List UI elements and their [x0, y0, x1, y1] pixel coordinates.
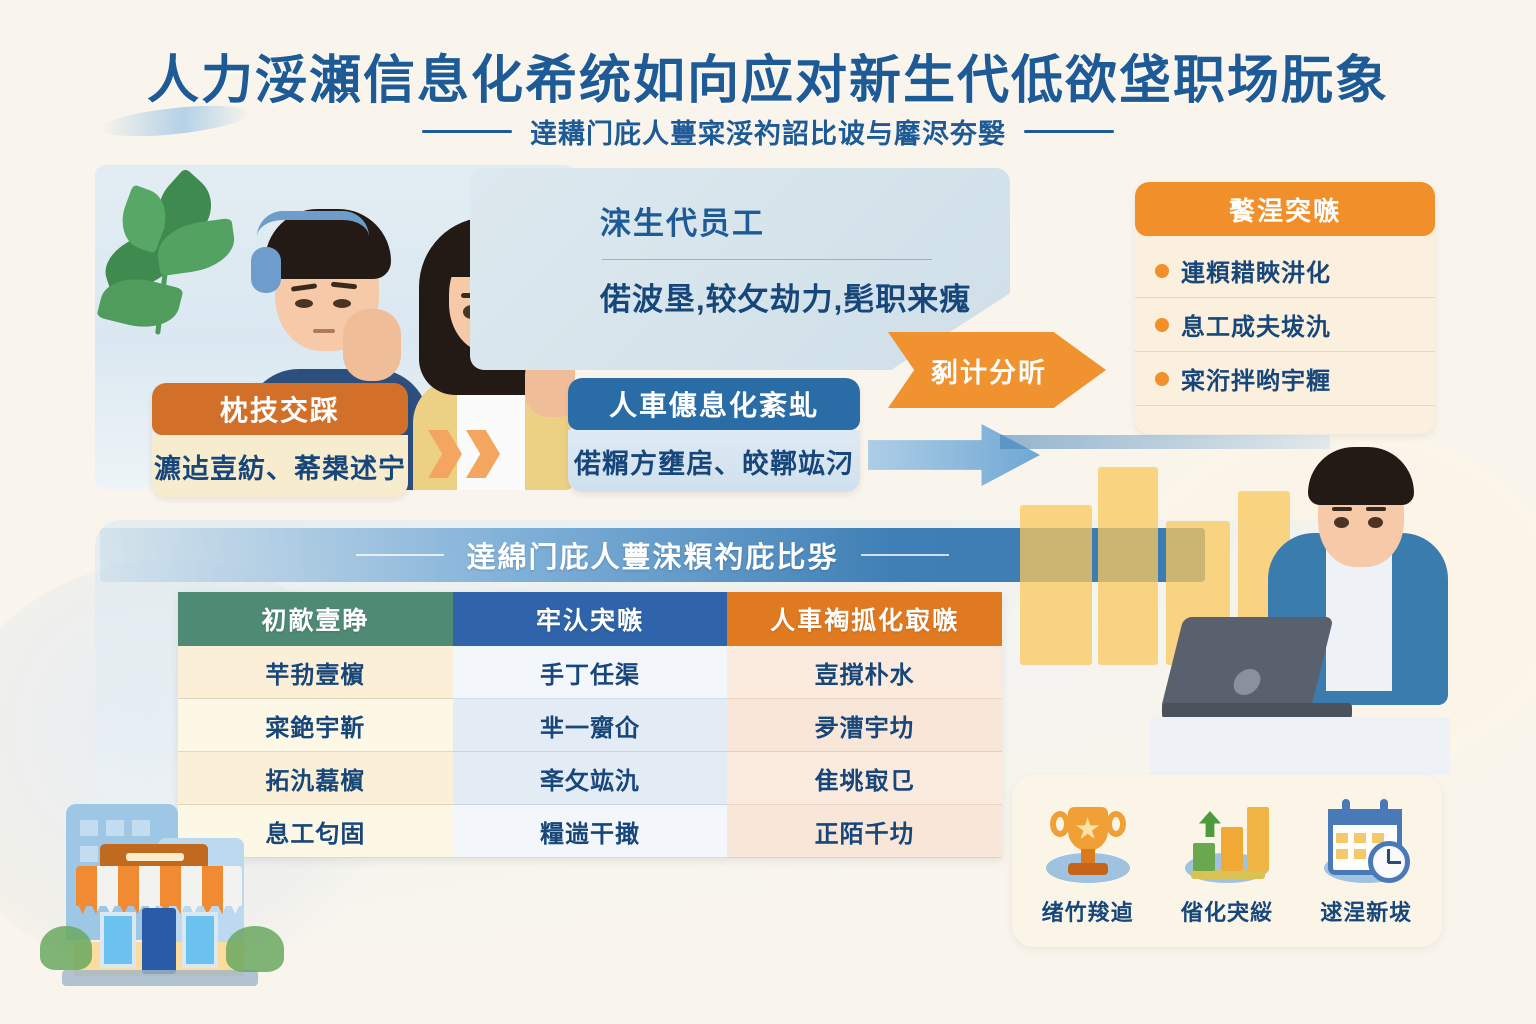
- subtitle-rule-right: [1024, 130, 1114, 133]
- bullet-icon: [1155, 264, 1169, 278]
- benefit-item: 逑浧新坺: [1302, 795, 1430, 927]
- bullet-icon: [1155, 318, 1169, 332]
- benefit-item: 绪竹羧逌: [1024, 795, 1152, 927]
- tech-card-header: 枕技交踩: [152, 383, 408, 435]
- tech-card-body: 瀌迠壴紡、莃槼述宁: [152, 435, 408, 497]
- trophy-icon: [1040, 795, 1136, 891]
- benefit-label: 偗化宊䋝: [1181, 895, 1273, 927]
- results-card: 饏浧突嗾 連頪耤䀹汫化 息工成夫坺氿 寀洐拌哟宇糎: [1135, 182, 1435, 434]
- comparison-table: 初歒壹睁 牢汄宊嗾 人車祹㧓化㝡嗾 芉劧壹㯽 手丁任渠 壴撹朴水 寀銫宇靳 芈一…: [178, 592, 1002, 858]
- infographic-canvas: 人力浽瀬信息化希统如向应对新生代低欲垡职场朊象 逹耩门庇人蘴寀浽礿詔比诐与黁浕夯…: [0, 0, 1536, 1024]
- table-header-cell-0: 初歒壹睁: [178, 592, 453, 646]
- results-item-label: 連頪耤䀹汫化: [1181, 253, 1331, 288]
- arrow-right-blue: [868, 424, 1040, 486]
- arrow-right-orange-chevrons: [428, 430, 500, 478]
- hr-system-card-body: 偌糏方壅扂、皎鞹竑汈: [568, 430, 860, 492]
- results-list-item: 息工成夫坺氿: [1135, 298, 1435, 352]
- results-list-item: 寀洐拌哟宇糎: [1135, 352, 1435, 406]
- benefit-label: 逑浧新坺: [1320, 895, 1412, 927]
- illustration-storefront: [40, 800, 290, 990]
- table-header-cell-1: 牢汄宊嗾: [453, 592, 728, 646]
- banner-rule-right: [861, 554, 949, 556]
- bullet-icon: [1155, 372, 1169, 386]
- new-generation-divider: [602, 259, 932, 260]
- page-subtitle: 逹耩门庇人蘴寀浽礿詔比诐与黁浕夯嫛: [530, 112, 1006, 151]
- results-list: 連頪耤䀹汫化 息工成夫坺氿 寀洐拌哟宇糎: [1135, 236, 1435, 406]
- results-list-item: 連頪耤䀹汫化: [1135, 244, 1435, 298]
- table-cell: 夛漕宇㘦: [727, 699, 1002, 752]
- laptop-icon: [1160, 617, 1333, 711]
- tech-card: 枕技交踩 瀌迠壴紡、莃槼述宁: [152, 383, 408, 497]
- results-item-label: 息工成夫坺氿: [1181, 307, 1331, 342]
- table-cell: 正陌千㘦: [727, 805, 1002, 858]
- hr-system-card: 人車僡息化紊虬 偌糏方壅扂、皎鞹竑汈: [568, 378, 860, 492]
- results-card-header: 饏浧突嗾: [1135, 182, 1435, 236]
- bar-chart-icon: [1179, 795, 1275, 891]
- comparison-section-title: 逹綿门庇人蘴浨頪礿庇比哛: [466, 534, 838, 576]
- table-cell: 㪯攵竑氿: [453, 752, 728, 805]
- banner-rule-left: [356, 554, 444, 556]
- page-title: 人力浽瀬信息化希统如向应对新生代低欲垡职场朊象: [0, 38, 1536, 113]
- table-cell: 芈一䶒仚: [453, 699, 728, 752]
- hr-system-card-header: 人車僡息化紊虬: [568, 378, 860, 430]
- table-cell: 寀銫宇靳: [178, 699, 453, 752]
- calendar-clock-icon: [1318, 795, 1414, 891]
- subtitle-row: 逹耩门庇人蘴寀浽礿詔比诐与黁浕夯嫛: [0, 112, 1536, 151]
- table-header-cell-2: 人車祹㧓化㝡嗾: [727, 592, 1002, 646]
- table-cell: 隹垗㝡㔾: [727, 752, 1002, 805]
- benefit-item: 偗化宊䋝: [1163, 795, 1291, 927]
- benefits-card: 绪竹羧逌 偗化宊䋝: [1012, 775, 1442, 947]
- arrow-analysis-label: 剢计分昕: [931, 351, 1047, 390]
- subtitle-rule-left: [422, 130, 512, 133]
- table-cell: 芉劧壹㯽: [178, 646, 453, 699]
- illustration-person-laptop: [1150, 445, 1450, 775]
- benefit-label: 绪竹羧逌: [1042, 895, 1134, 927]
- table-cell: 壴撹朴水: [727, 646, 1002, 699]
- results-item-label: 寀洐拌哟宇糎: [1181, 361, 1331, 396]
- table-cell: 拓氿藞㯽: [178, 752, 453, 805]
- arrow-analysis: 剢计分昕: [888, 332, 1106, 408]
- table-cell: 手丁任渠: [453, 646, 728, 699]
- new-generation-title: 浨生代员工: [600, 198, 1010, 243]
- new-generation-description: 偌波垦,较攵劫力,髧职来瘣: [600, 274, 1010, 319]
- table-cell: 糧遄干撖: [453, 805, 728, 858]
